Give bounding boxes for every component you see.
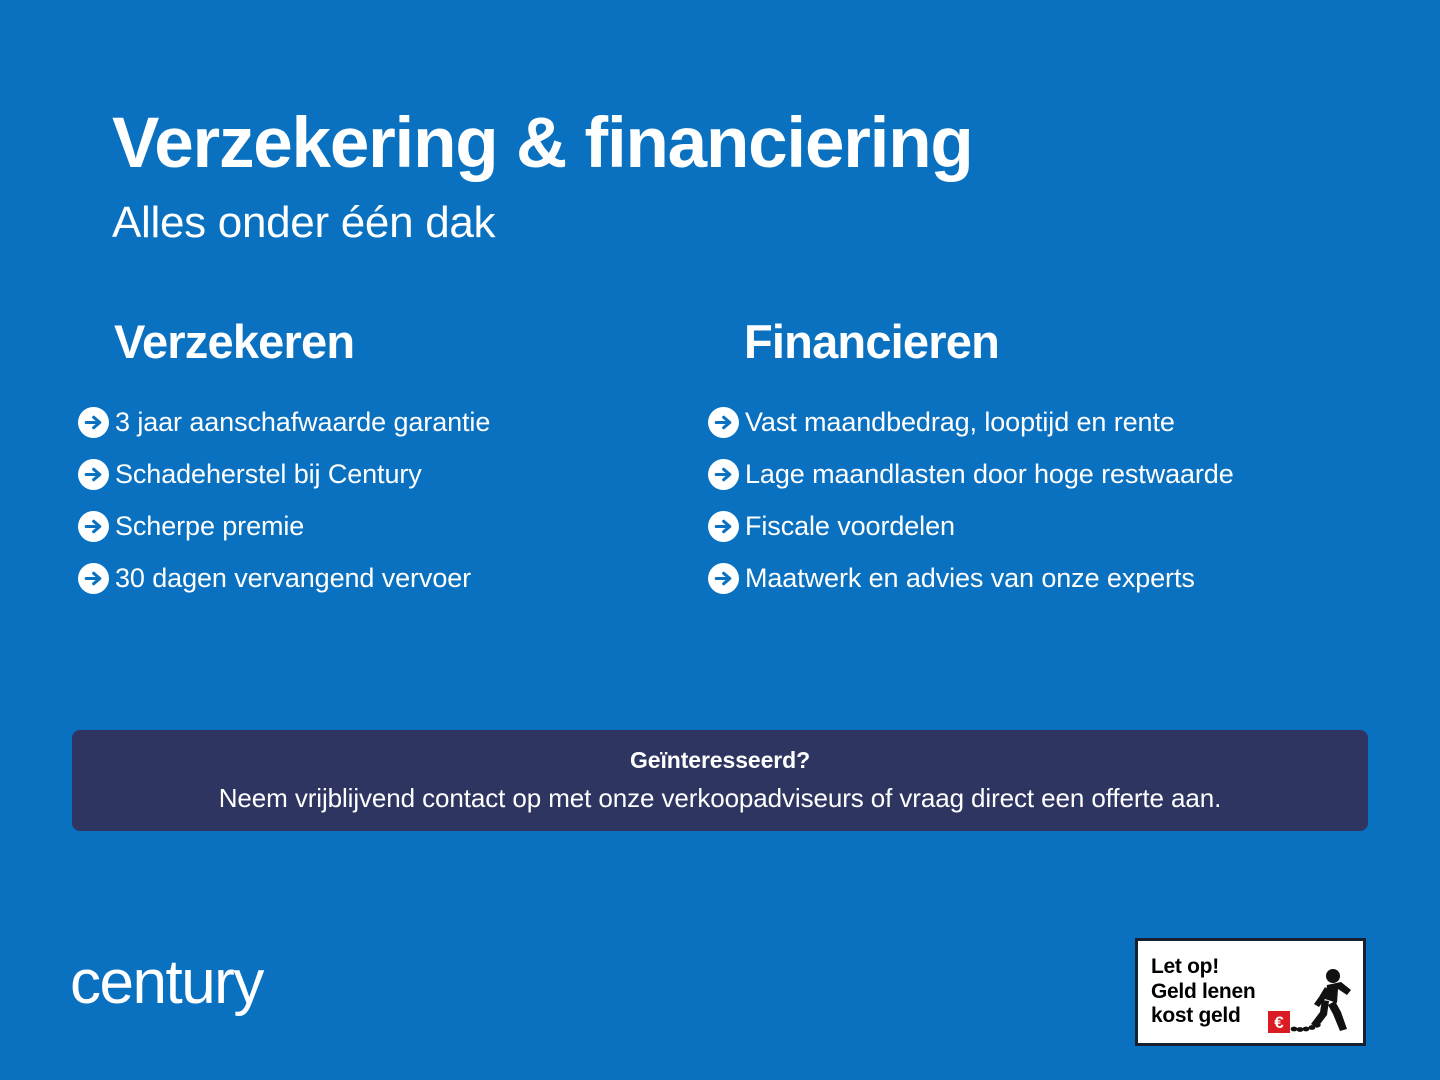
walking-person-with-ball-and-chain-icon: € (1267, 967, 1359, 1039)
list-item: Fiscale voordelen (708, 500, 1408, 552)
list-item-label: 30 dagen vervangend vervoer (115, 565, 471, 592)
list-item-label: Lage maandlasten door hoge restwaarde (745, 461, 1234, 488)
cta-banner: Geïnteresseerd? Neem vrijblijvend contac… (72, 730, 1368, 831)
credit-warning-text: Let op! Geld lenen kost geld (1138, 955, 1255, 1028)
bullet-list-financieren: Vast maandbedrag, looptijd en rente Lage… (708, 396, 1408, 604)
arrow-right-circle-icon (78, 407, 109, 438)
cta-heading: Geïnteresseerd? (630, 747, 810, 774)
list-item-label: Schadeherstel bij Century (115, 461, 422, 488)
page-subtitle: Alles onder één dak (112, 201, 973, 245)
arrow-right-circle-icon (708, 459, 739, 490)
list-item: Scherpe premie (78, 500, 698, 552)
list-item-label: Vast maandbedrag, looptijd en rente (745, 409, 1175, 436)
bullet-list-verzekeren: 3 jaar aanschafwaarde garantie Schadeher… (78, 396, 698, 604)
list-item-label: Scherpe premie (115, 513, 304, 540)
svg-text:€: € (1274, 1013, 1284, 1032)
column-heading-verzekeren: Verzekeren (114, 318, 698, 365)
list-item-label: 3 jaar aanschafwaarde garantie (115, 409, 490, 436)
cta-body-text: Neem vrijblijvend contact op met onze ve… (219, 783, 1221, 814)
column-financieren: Financieren Vast maandbedrag, looptijd e… (708, 318, 1408, 604)
arrow-right-circle-icon (708, 511, 739, 542)
column-heading-financieren: Financieren (744, 318, 1408, 365)
list-item: 3 jaar aanschafwaarde garantie (78, 396, 698, 448)
page-header: Verzekering & financiering Alles onder é… (112, 108, 973, 245)
credit-warning-box: Let op! Geld lenen kost geld € (1135, 938, 1366, 1046)
arrow-right-circle-icon (78, 563, 109, 594)
arrow-right-circle-icon (708, 407, 739, 438)
list-item-label: Fiscale voordelen (745, 513, 955, 540)
list-item: 30 dagen vervangend vervoer (78, 552, 698, 604)
list-item: Vast maandbedrag, looptijd en rente (708, 396, 1408, 448)
arrow-right-circle-icon (78, 459, 109, 490)
list-item-label: Maatwerk en advies van onze experts (745, 565, 1195, 592)
century-logo: century (70, 952, 263, 1014)
list-item: Lage maandlasten door hoge restwaarde (708, 448, 1408, 500)
list-item: Schadeherstel bij Century (78, 448, 698, 500)
arrow-right-circle-icon (78, 511, 109, 542)
page-title: Verzekering & financiering (112, 108, 973, 179)
column-verzekeren: Verzekeren 3 jaar aanschafwaarde garanti… (78, 318, 698, 604)
list-item: Maatwerk en advies van onze experts (708, 552, 1408, 604)
arrow-right-circle-icon (708, 563, 739, 594)
